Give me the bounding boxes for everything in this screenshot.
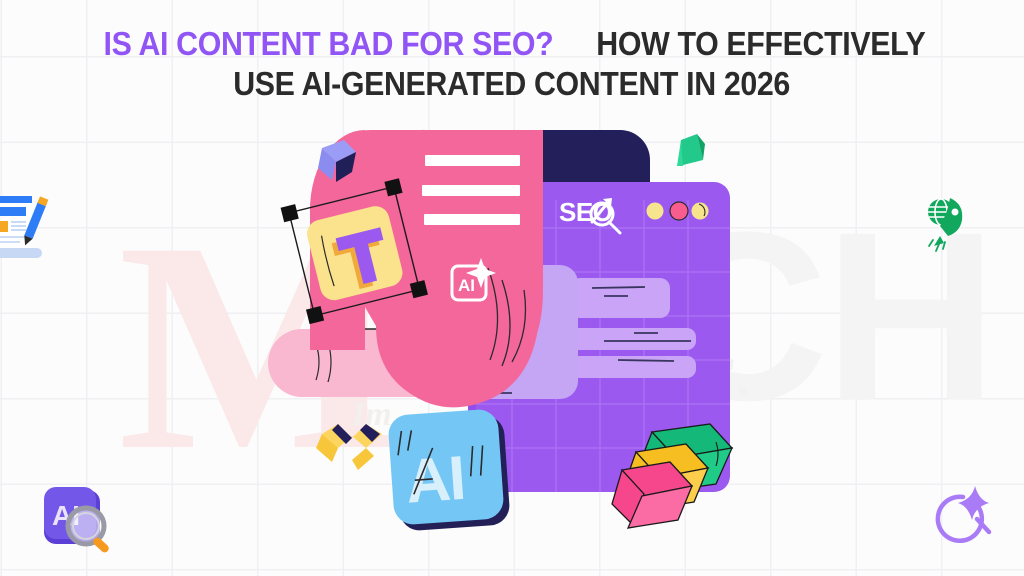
yellow-zigzag-shape bbox=[316, 424, 382, 470]
ai-magnifier-icon: AI bbox=[44, 487, 110, 554]
svg-text:SEO: SEO bbox=[559, 197, 613, 227]
pink-paper-scroll bbox=[268, 130, 543, 407]
paper-text-line-1 bbox=[425, 155, 520, 166]
ai-card[interactable]: AI bbox=[387, 408, 510, 531]
document-edit-icon bbox=[0, 196, 48, 258]
paper-text-line-2 bbox=[422, 185, 520, 196]
traffic-light-yellow[interactable] bbox=[647, 203, 664, 220]
content-row-1 bbox=[570, 278, 670, 318]
selection-handle-tl[interactable] bbox=[281, 204, 299, 222]
content-row-3 bbox=[570, 356, 696, 378]
paper-text-line-3 bbox=[424, 214, 520, 225]
title-line-1: IS AI CONTENT BAD FOR SEO? HOW TO EFFECT… bbox=[0, 24, 1024, 64]
svg-text:AI: AI bbox=[458, 276, 475, 295]
page-title: IS AI CONTENT BAD FOR SEO? HOW TO EFFECT… bbox=[0, 24, 1024, 103]
content-row-2 bbox=[570, 328, 696, 350]
traffic-light-yellow-2[interactable] bbox=[692, 203, 709, 220]
title-line1-rest: HOW TO EFFECTIVELY bbox=[596, 24, 925, 64]
svg-text:AI: AI bbox=[404, 444, 467, 517]
poster-canvas: M CH c. Im IS AI CONTENT BAD FOR SEO? HO… bbox=[0, 0, 1024, 576]
window-traffic-lights[interactable] bbox=[647, 202, 709, 220]
green-pyramid-shape bbox=[677, 134, 705, 166]
traffic-light-pink[interactable] bbox=[670, 202, 688, 220]
globe-rocket-icon bbox=[928, 198, 962, 251]
title-line-2: USE AI-GENERATED CONTENT IN 2026 bbox=[0, 64, 1024, 104]
title-line2-text: USE AI-GENERATED CONTENT IN 2026 bbox=[234, 64, 791, 104]
title-highlight: IS AI CONTENT BAD FOR SEO? bbox=[104, 24, 554, 64]
sparkle-search-icon bbox=[938, 486, 989, 541]
